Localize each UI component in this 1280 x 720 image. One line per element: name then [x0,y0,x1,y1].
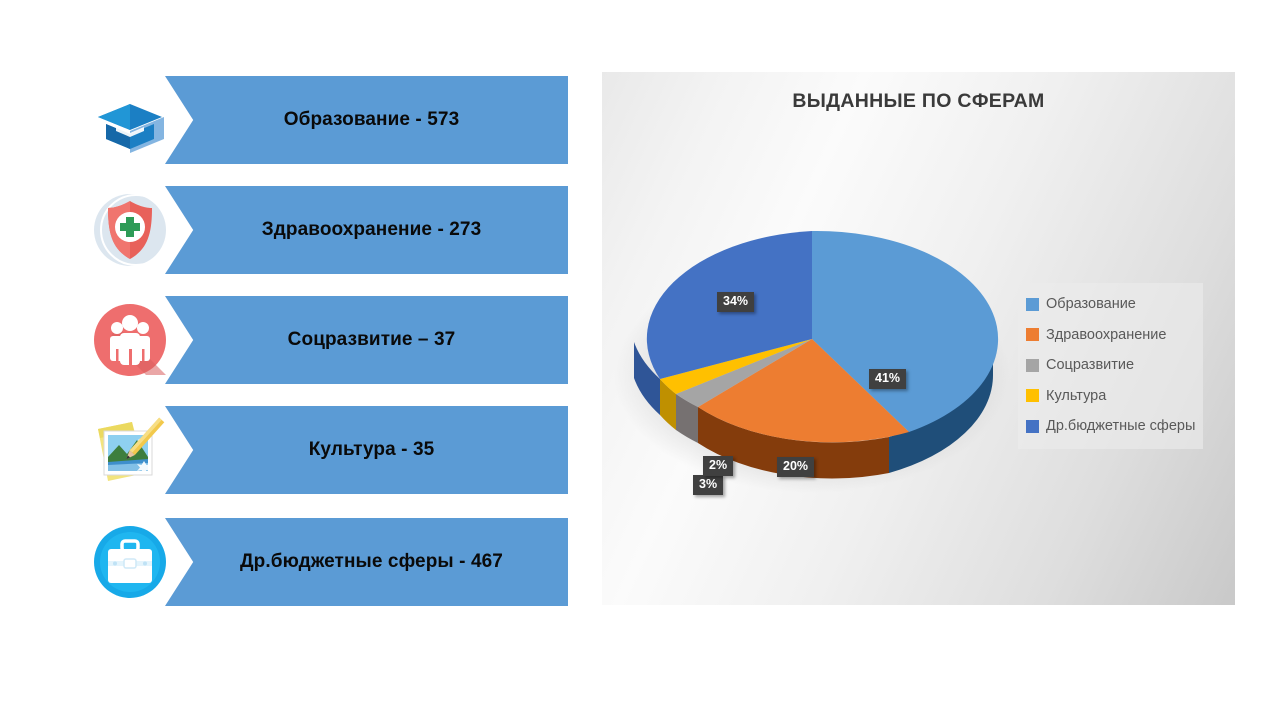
medical-shield-icon [86,187,174,273]
sphere-icon-wrap-culture [86,406,178,494]
people-group-icon [86,297,174,383]
sphere-banner-culture[interactable]: Культура - 35 [165,406,568,494]
pie-data-label-education: 41% [869,369,906,389]
legend-label-social: Соцразвитие [1046,357,1134,373]
sphere-label-social: Соцразвитие – 37 [278,329,456,351]
pie-data-label-other-budget: 34% [717,292,754,312]
pie-data-label-culture: 2% [703,456,733,476]
legend-label-healthcare: Здравоохранение [1046,327,1166,343]
sphere-label-culture: Культура - 35 [299,439,435,461]
legend-item-social[interactable]: Соцразвитие [1026,350,1195,381]
photo-pencil-icon [86,407,174,493]
legend-item-education[interactable]: Образование [1026,289,1195,320]
chart-panel[interactable]: ВЫДАННЫЕ ПО СФЕРАМ [602,72,1235,605]
sphere-banner-other-budget[interactable]: Др.бюджетные сферы - 467 [165,518,568,606]
spheres-list: Образование - 573 Здравоохранение - 273 [0,0,600,720]
legend-swatch-other-budget [1026,420,1039,433]
pie-chart[interactable] [612,167,1032,527]
chart-title: ВЫДАННЫЕ ПО СФЕРАМ [602,90,1235,113]
pie-data-label-healthcare: 20% [777,457,814,477]
sphere-label-healthcare: Здравоохранение - 273 [252,219,482,241]
legend-item-culture[interactable]: Культура [1026,381,1195,412]
legend-swatch-education [1026,298,1039,311]
graduation-cap-icon [86,77,174,163]
legend-label-other-budget: Др.бюджетные сферы [1046,418,1195,434]
legend-label-culture: Культура [1046,388,1106,404]
sphere-row-education[interactable]: Образование - 573 [0,76,600,164]
sphere-label-other-budget: Др.бюджетные сферы - 467 [230,551,503,573]
sphere-label-education: Образование - 573 [274,109,460,131]
sphere-row-culture[interactable]: Культура - 35 [0,406,600,494]
sphere-banner-social[interactable]: Соцразвитие – 37 [165,296,568,384]
legend-item-healthcare[interactable]: Здравоохранение [1026,320,1195,351]
legend-item-other-budget[interactable]: Др.бюджетные сферы [1026,411,1195,442]
sphere-banner-healthcare[interactable]: Здравоохранение - 273 [165,186,568,274]
legend-swatch-social [1026,359,1039,372]
legend-swatch-culture [1026,389,1039,402]
pie-data-label-social: 3% [693,475,723,495]
sphere-row-other-budget[interactable]: Др.бюджетные сферы - 467 [0,518,600,606]
legend-label-education: Образование [1046,296,1136,312]
sphere-banner-education[interactable]: Образование - 573 [165,76,568,164]
sphere-row-healthcare[interactable]: Здравоохранение - 273 [0,186,600,274]
briefcase-icon [86,519,174,605]
sphere-row-social[interactable]: Соцразвитие – 37 [0,296,600,384]
legend-swatch-healthcare [1026,328,1039,341]
chart-legend[interactable]: Образование Здравоохранение Соцразвитие … [1018,283,1203,449]
sphere-icon-wrap-healthcare [86,186,178,274]
sphere-icon-wrap-education [86,76,178,164]
sphere-icon-wrap-social [86,296,178,384]
sphere-icon-wrap-other-budget [86,518,178,606]
